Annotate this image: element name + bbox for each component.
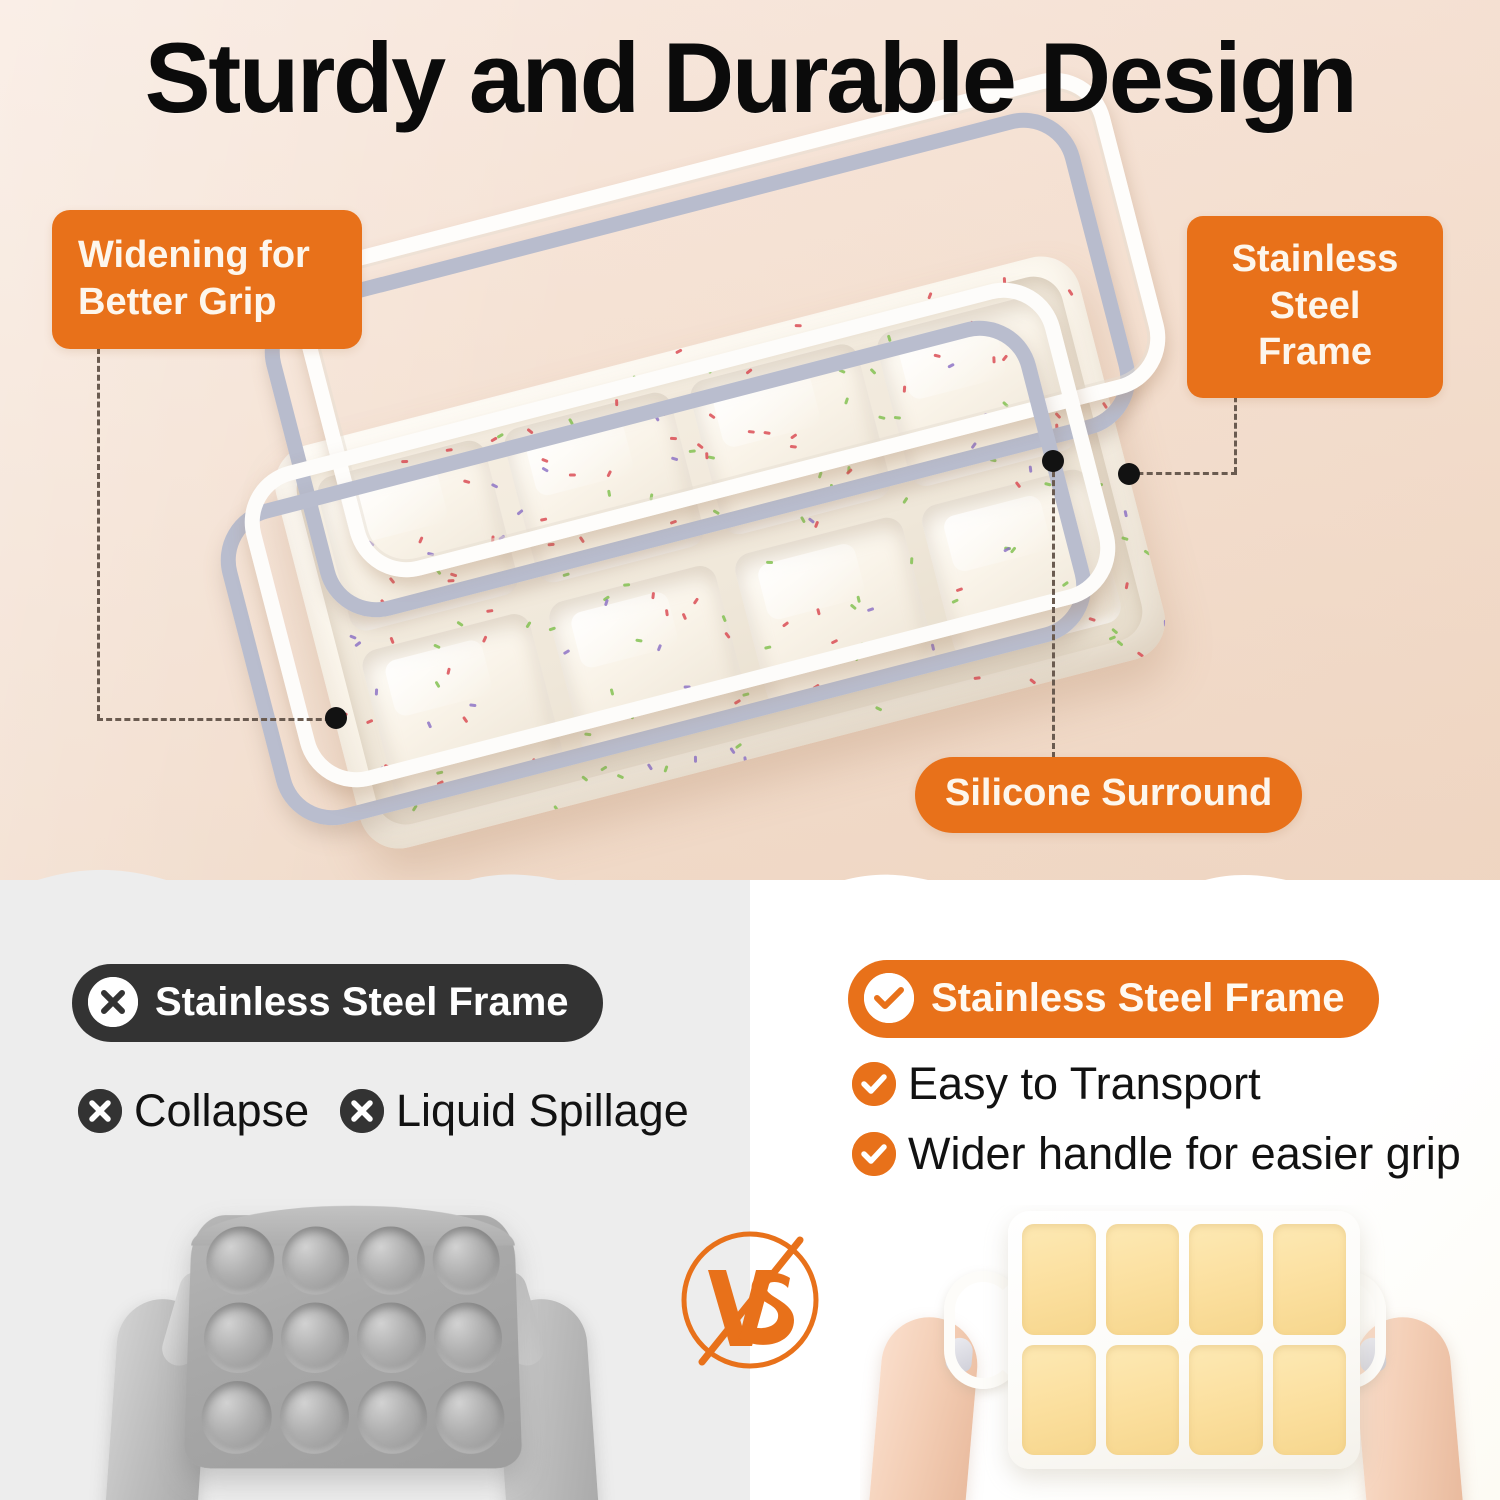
white-tray-cells [1022,1224,1346,1455]
pro-item-easy-to-transport: Easy to Transport [852,1058,1261,1110]
con-item-collapse: Collapse [78,1085,309,1137]
con-heading-pill[interactable]: Stainless Steel Frame [72,964,603,1042]
pro-heading-pill[interactable]: Stainless Steel Frame [848,960,1379,1038]
connector-line-widening-h [97,718,340,721]
pro-item-label: Wider handle for easier grip [908,1128,1461,1180]
con-item-liquid-spillage: Liquid Spillage [340,1085,689,1137]
pro-item-label: Easy to Transport [908,1058,1261,1110]
connector-dot-silicone [1042,450,1064,472]
white-tray-cell [1189,1224,1263,1335]
white-tray-cell [1022,1345,1096,1456]
white-tray-cell [1189,1345,1263,1456]
connector-dot-steel [1118,463,1140,485]
check-circle-icon [852,1132,896,1176]
gray-tray-cell [200,1381,271,1454]
callout-stainless-steel-frame[interactable]: Stainless Steel Frame [1187,216,1443,398]
gray-tray-cell [357,1381,427,1454]
x-circle-icon [88,977,138,1027]
callout-widening-for-better-grip[interactable]: Widening for Better Grip [52,210,362,349]
white-tray-cell [1273,1224,1347,1335]
white-tray-cell [1273,1345,1347,1456]
gray-tray-cell [279,1381,349,1454]
check-circle-icon [852,1062,896,1106]
white-tray-cell [1022,1224,1096,1335]
gray-tray-cell [203,1303,273,1373]
con-heading-label: Stainless Steel Frame [155,980,569,1025]
connector-dot-widening [325,707,347,729]
con-item-label: Liquid Spillage [396,1085,689,1137]
rigid-white-tray [1008,1211,1360,1469]
gray-tray-cell [432,1226,501,1294]
con-product-photo [60,1195,680,1500]
x-circle-icon [340,1089,384,1133]
x-circle-icon [78,1089,122,1133]
gray-tray-cells [200,1226,505,1453]
gray-tray-cell [205,1226,274,1294]
gray-tray-cell [433,1303,503,1373]
connector-line-silicone-v [1052,462,1055,758]
gray-tray-cell [281,1226,349,1294]
wavy-divider [0,842,1500,952]
gray-tray-cell [280,1303,349,1373]
pro-product-photo [860,1205,1480,1500]
vs-badge-icon [672,1222,828,1378]
gray-tray-cell [357,1303,426,1373]
page-title: Sturdy and Durable Design [0,26,1500,130]
con-item-label: Collapse [134,1085,309,1137]
gray-tray-cell [434,1381,505,1454]
callout-silicone-surround[interactable]: Silicone Surround [915,757,1302,833]
connector-line-steel-h [1128,472,1237,475]
check-circle-icon [864,973,914,1023]
gray-tray-cell [357,1226,425,1294]
white-tray-cell [1106,1224,1180,1335]
connector-line-widening-v [97,348,100,720]
pro-item-wider-handle: Wider handle for easier grip [852,1128,1461,1180]
hero-section: Sturdy and Durable Design [0,0,1500,905]
collapsing-gray-tray [184,1215,523,1468]
pro-heading-label: Stainless Steel Frame [931,976,1345,1021]
white-tray-cell [1106,1345,1180,1456]
